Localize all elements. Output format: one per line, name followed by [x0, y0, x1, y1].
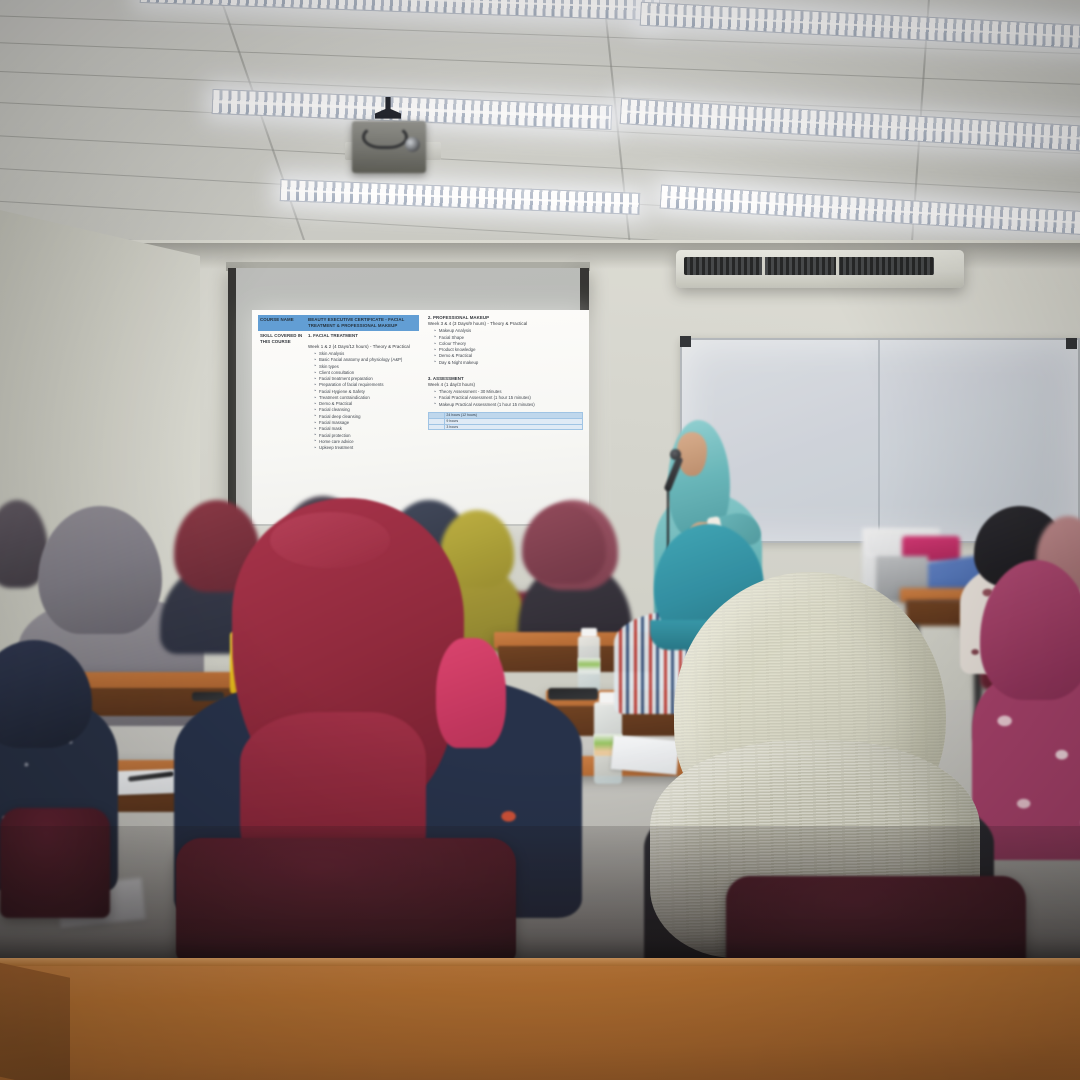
whiteboard-corner-bracket	[680, 336, 691, 347]
ceiling	[0, 0, 1080, 268]
room-shadow-band	[0, 826, 1080, 966]
attendee-pink-underscarf	[436, 638, 506, 748]
attendee-grey-hijab	[38, 506, 162, 634]
attendee-crimson-floral-hijab-fold	[270, 512, 390, 568]
projector-cable	[362, 125, 408, 149]
slide-bullet: Day & Night makeup	[434, 360, 583, 366]
whiteboard-corner-bracket	[1066, 338, 1077, 349]
slide-bullet: Makeup Practical Assessment (1 hour 15 m…	[434, 402, 583, 408]
microphone-head	[670, 449, 681, 460]
ceiling-light-fixture	[140, 0, 661, 21]
slide-section2-subheading: Week 3 & 4 (3 Days/9 hours) - Theory & P…	[428, 321, 583, 327]
slide-row-skill-covered: SKILL COVERED IN THIS COURSE 1. FACIAL T…	[258, 331, 419, 454]
slide-label-course-name: COURSE NAME	[258, 315, 306, 331]
ceiling-light-fixture	[280, 179, 641, 215]
slide-label-skill-covered: SKILL COVERED IN THIS COURSE	[258, 331, 306, 454]
presenter-face	[677, 432, 707, 476]
slide-section2-bullets: Makeup Analysis Facial Shape Colour Theo…	[434, 328, 583, 366]
ceiling-light-fixture	[660, 185, 1080, 236]
ceiling-projector	[352, 121, 426, 173]
slide-row-course-name: COURSE NAME BEAUTY EXECUTIVE CERTIFICATE…	[258, 315, 419, 331]
projector-lens	[405, 137, 420, 152]
air-conditioner-unit	[676, 250, 964, 288]
slide-right-column: 2. PROFESSIONAL MAKEUP Week 3 & 4 (3 Day…	[428, 315, 583, 519]
classroom-photo: COURSE NAME BEAUTY EXECUTIVE CERTIFICATE…	[0, 0, 1080, 1080]
slide-summary-table: 24 hours (12 hours) 9 hours 3 hours	[428, 412, 583, 430]
air-conditioner-grille	[684, 257, 934, 275]
slide-bullet: Upkeep treatment	[314, 445, 417, 451]
slide-section3-subheading: Week 4 (1 day/3 hours)	[428, 382, 583, 388]
projected-slide: COURSE NAME BEAUTY EXECUTIVE CERTIFICATE…	[252, 310, 589, 524]
attendee-navy-dotted-hijab	[0, 640, 92, 748]
front-desk	[0, 958, 1080, 1080]
slide-left-column: COURSE NAME BEAUTY EXECUTIVE CERTIFICATE…	[258, 315, 419, 519]
summary-cell-label	[428, 424, 444, 430]
front-desk-edge	[0, 958, 1080, 966]
slide-header-table: COURSE NAME BEAUTY EXECUTIVE CERTIFICATE…	[258, 315, 419, 453]
slide-section3-bullets: Theory Assessment - 30 Minutes Facial Pr…	[434, 389, 583, 408]
slide-left-bullet-list: Skin Analysis Basic Facial anatomy and p…	[314, 351, 417, 451]
ceiling-light-fixture	[640, 2, 1080, 51]
slide-value-course-name: BEAUTY EXECUTIVE CERTIFICATE - FACIAL TR…	[306, 315, 419, 331]
whiteboard-seam	[878, 340, 880, 541]
table-row: 3 hours	[428, 424, 582, 430]
summary-cell-value: 3 hours	[444, 424, 582, 430]
slide-value-skill-covered: 1. FACIAL TREATMENT Week 1 & 2 (4 Days/1…	[306, 331, 419, 454]
